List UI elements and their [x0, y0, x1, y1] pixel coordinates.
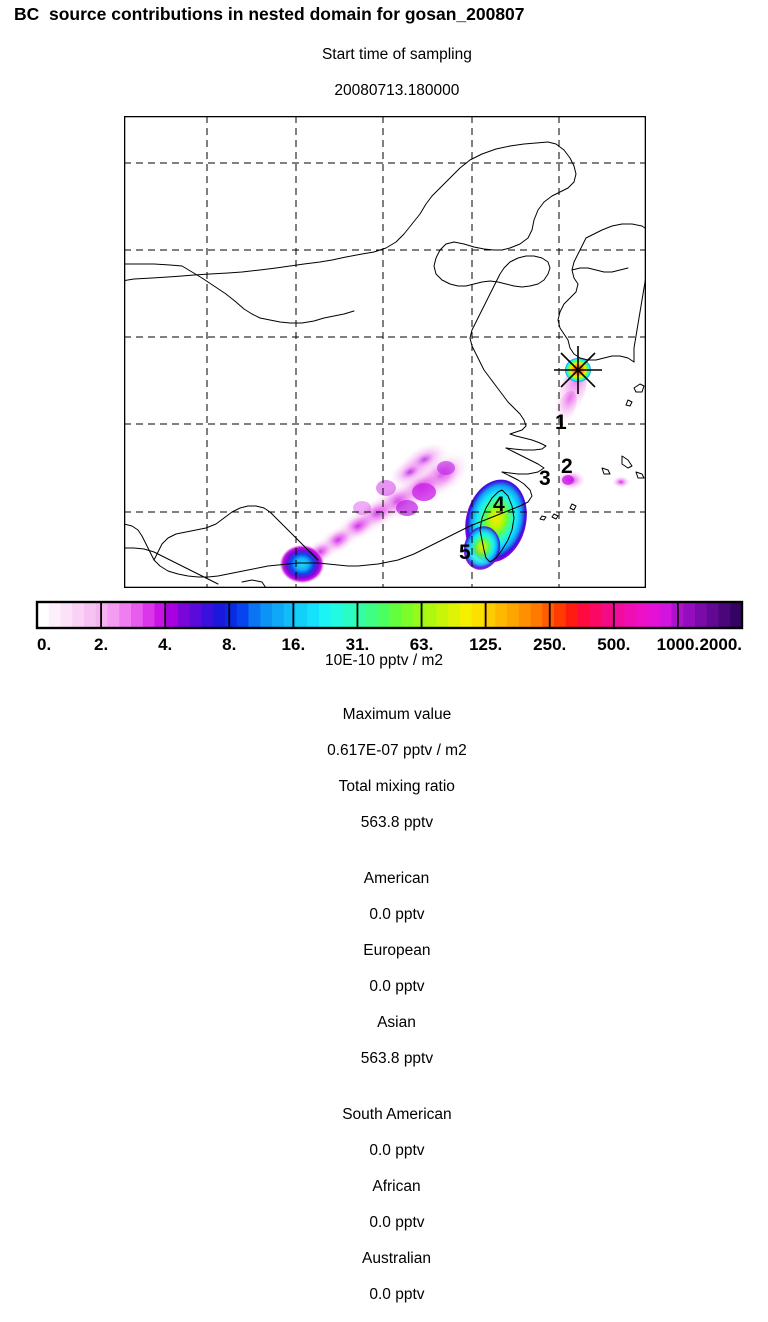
- plume-label-5: 5: [459, 541, 471, 564]
- region-african-label: African: [372, 1178, 420, 1195]
- colorbar-band: [589, 602, 601, 628]
- plume-label-1: 1: [555, 411, 567, 434]
- colorbar-band: [260, 602, 272, 628]
- colorbar-band: [519, 602, 531, 628]
- colorbar-band: [578, 602, 590, 628]
- region-american-value: 0.0 pptv: [369, 906, 424, 923]
- stat-line-totals: Maximum value 0.617E-07 pptv / m2 Total …: [0, 688, 768, 850]
- stat-line-regions-1: American 0.0 pptv European 0.0 pptv Asia…: [0, 852, 768, 1086]
- map-plot-svg: 1 2 3 4 5: [124, 116, 646, 588]
- colorbar-band: [366, 602, 378, 628]
- colorbar-band: [707, 602, 719, 628]
- colorbar-band: [296, 602, 308, 628]
- map-plot: 1 2 3 4 5: [124, 116, 646, 588]
- colorbar-band: [119, 602, 131, 628]
- region-european-label: European: [363, 942, 430, 959]
- colorbar-band: [319, 602, 331, 628]
- colorbar-band: [660, 602, 672, 628]
- colorbar-band: [354, 602, 366, 628]
- statistics-panel: Maximum value 0.617E-07 pptv / m2 Total …: [0, 686, 768, 1322]
- colorbar-svg: 0.2.4.8.16.31.63.125.250.500.1000.2000.: [0, 596, 768, 658]
- colorbar-band: [331, 602, 343, 628]
- colorbar-band: [636, 602, 648, 628]
- colorbar-band: [108, 602, 120, 628]
- colorbar-band: [84, 602, 96, 628]
- region-australian-label: Australian: [362, 1250, 431, 1267]
- colorbar-band: [49, 602, 61, 628]
- colorbar-band: [225, 602, 237, 628]
- colorbar-band: [166, 602, 178, 628]
- colorbar-band: [719, 602, 731, 628]
- plume-label-2: 2: [561, 455, 573, 478]
- colorbar-band: [472, 602, 484, 628]
- colorbar-band: [272, 602, 284, 628]
- region-asian-label: Asian: [377, 1014, 416, 1031]
- region-south-american-value: 0.0 pptv: [369, 1142, 424, 1159]
- colorbar-band: [730, 602, 742, 628]
- page-title: BC source contributions in nested domain…: [14, 4, 768, 25]
- dispersion-plot-page: BC source contributions in nested domain…: [0, 0, 768, 768]
- region-american-label: American: [364, 870, 429, 887]
- start-time-value: 20080713.180000: [334, 82, 459, 99]
- colorbar-band: [307, 602, 319, 628]
- max-value-value: 0.617E-07 pptv / m2: [327, 742, 467, 759]
- plume-label-3: 3: [539, 467, 551, 490]
- colorbar-band: [695, 602, 707, 628]
- colorbar-band: [437, 602, 449, 628]
- colorbar-band: [61, 602, 73, 628]
- region-australian-value: 0.0 pptv: [369, 1286, 424, 1303]
- colorbar-band: [401, 602, 413, 628]
- colorbar-band: [37, 602, 49, 628]
- colorbar-band: [178, 602, 190, 628]
- plume-label-4: 4: [493, 493, 505, 516]
- colorbar-band: [413, 602, 425, 628]
- colorbar-band: [343, 602, 355, 628]
- colorbar-band: [237, 602, 249, 628]
- colorbar-band: [390, 602, 402, 628]
- start-time-label: Start time of sampling: [322, 46, 472, 63]
- colorbar-band: [213, 602, 225, 628]
- colorbar-band: [554, 602, 566, 628]
- colorbar-band: [460, 602, 472, 628]
- colorbar: 0.2.4.8.16.31.63.125.250.500.1000.2000.: [0, 596, 768, 658]
- colorbar-band: [507, 602, 519, 628]
- colorbar-band: [190, 602, 202, 628]
- colorbar-unit-label: 10E-10 pptv / m2: [0, 652, 768, 670]
- region-european-value: 0.0 pptv: [369, 978, 424, 995]
- colorbar-band: [495, 602, 507, 628]
- colorbar-band: [566, 602, 578, 628]
- colorbar-band: [531, 602, 543, 628]
- colorbar-band: [249, 602, 261, 628]
- colorbar-band: [648, 602, 660, 628]
- colorbar-band: [425, 602, 437, 628]
- colorbar-band: [131, 602, 143, 628]
- colorbar-band: [683, 602, 695, 628]
- colorbar-band: [448, 602, 460, 628]
- colorbar-band: [202, 602, 214, 628]
- region-south-american-label: South American: [342, 1106, 451, 1123]
- stat-line-regions-2: South American 0.0 pptv African 0.0 pptv…: [0, 1088, 768, 1322]
- colorbar-band: [625, 602, 637, 628]
- total-mixing-ratio-label: Total mixing ratio: [339, 778, 455, 795]
- region-african-value: 0.0 pptv: [369, 1214, 424, 1231]
- colorbar-band: [601, 602, 613, 628]
- colorbar-band: [72, 602, 84, 628]
- colorbar-band: [378, 602, 390, 628]
- max-value-label: Maximum value: [343, 706, 452, 723]
- colorbar-bands: [37, 602, 743, 628]
- region-asian-value: 563.8 pptv: [361, 1050, 433, 1067]
- colorbar-band: [542, 602, 554, 628]
- receptor-marker[interactable]: [554, 346, 602, 394]
- colorbar-band: [143, 602, 155, 628]
- total-mixing-ratio-value: 563.8 pptv: [361, 814, 433, 831]
